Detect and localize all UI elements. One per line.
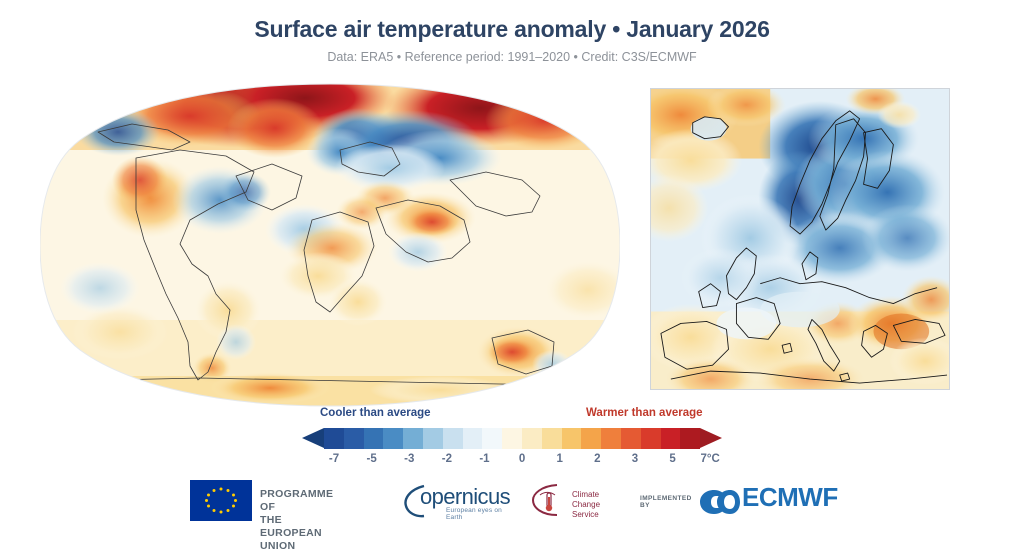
colorbar-swatch (581, 428, 601, 449)
colorbar-tick-label: -3 (404, 453, 414, 465)
c3s-text: Climate Change Service (572, 490, 600, 520)
europe-anomaly-map (651, 89, 949, 389)
global-anomaly-map (40, 80, 620, 410)
colorbar-tick-label: -7 (329, 453, 339, 465)
colorbar (302, 428, 722, 449)
eu-flag-icon (190, 480, 252, 521)
colorbar-tick-label: 3 (632, 453, 638, 465)
colorbar-ticks: -7-5-3-2-1012357°C (302, 453, 722, 469)
colorbar-tick-label: 2 (594, 453, 600, 465)
colorbar-tick-label: 7°C (701, 453, 720, 465)
colorbar-tick-label: 5 (669, 453, 675, 465)
c3s-thermometer-icon (527, 480, 569, 520)
colorbar-swatch (443, 428, 463, 449)
colorbar-tick-label: -1 (479, 453, 489, 465)
page-subtitle: Data: ERA5 • Reference period: 1991–2020… (0, 50, 1024, 64)
colorbar-swatch (680, 428, 700, 449)
colorbar-swatch (502, 428, 522, 449)
footer-logos: PROGRAMME OF THE EUROPEAN UNION opernicu… (0, 476, 1024, 525)
colorbar-swatch (601, 428, 621, 449)
legend-cool-label: Cooler than average (320, 407, 431, 419)
colorbar-legend: Cooler than average Warmer than average … (0, 405, 1024, 475)
colorbar-left-arrow (302, 428, 324, 448)
colorbar-tick-label: 0 (519, 453, 525, 465)
eu-text-line2: THE EUROPEAN UNION (260, 514, 333, 553)
europe-inset-panel (650, 88, 950, 390)
colorbar-swatch (482, 428, 502, 449)
colorbar-swatch (324, 428, 344, 449)
copernicus-logo: opernicus European eyes on Earth (400, 482, 520, 525)
colorbar-swatches (324, 428, 700, 449)
colorbar-swatch (463, 428, 483, 449)
page-title: Surface air temperature anomaly • Januar… (0, 16, 1024, 43)
colorbar-tick-label: 1 (557, 453, 563, 465)
copernicus-tagline: European eyes on Earth (446, 507, 520, 521)
eu-logo: PROGRAMME OF THE EUROPEAN UNION (190, 480, 252, 521)
legend-warm-label: Warmer than average (586, 407, 703, 419)
eu-text-line1: PROGRAMME OF (260, 488, 333, 514)
global-anomaly-field (40, 80, 620, 410)
eu-programme-text: PROGRAMME OF THE EUROPEAN UNION (260, 488, 333, 553)
c3s-text-line1: Climate (572, 490, 600, 500)
colorbar-swatch (344, 428, 364, 449)
colorbar-swatch (403, 428, 423, 449)
colorbar-swatch (364, 428, 384, 449)
colorbar-tick-label: -2 (442, 453, 452, 465)
colorbar-swatch (661, 428, 681, 449)
eu-stars-icon (190, 480, 252, 521)
colorbar-swatch (522, 428, 542, 449)
colorbar-swatch (641, 428, 661, 449)
colorbar-swatch (383, 428, 403, 449)
implemented-by-label: IMPLEMENTED BY (640, 495, 692, 509)
colorbar-right-arrow (700, 428, 722, 448)
c3s-text-line2: Change Service (572, 500, 600, 520)
colorbar-swatch (562, 428, 582, 449)
c3s-logo: Climate Change Service (527, 480, 569, 525)
global-map-panel (40, 80, 620, 410)
climate-anomaly-figure: Surface air temperature anomaly • Januar… (0, 0, 1024, 525)
colorbar-swatch (423, 428, 443, 449)
colorbar-swatch (621, 428, 641, 449)
colorbar-tick-label: -5 (366, 453, 376, 465)
colorbar-swatch (542, 428, 562, 449)
ecmwf-wordmark: ECMWF (742, 482, 838, 513)
ecmwf-globe-icon (696, 486, 742, 518)
